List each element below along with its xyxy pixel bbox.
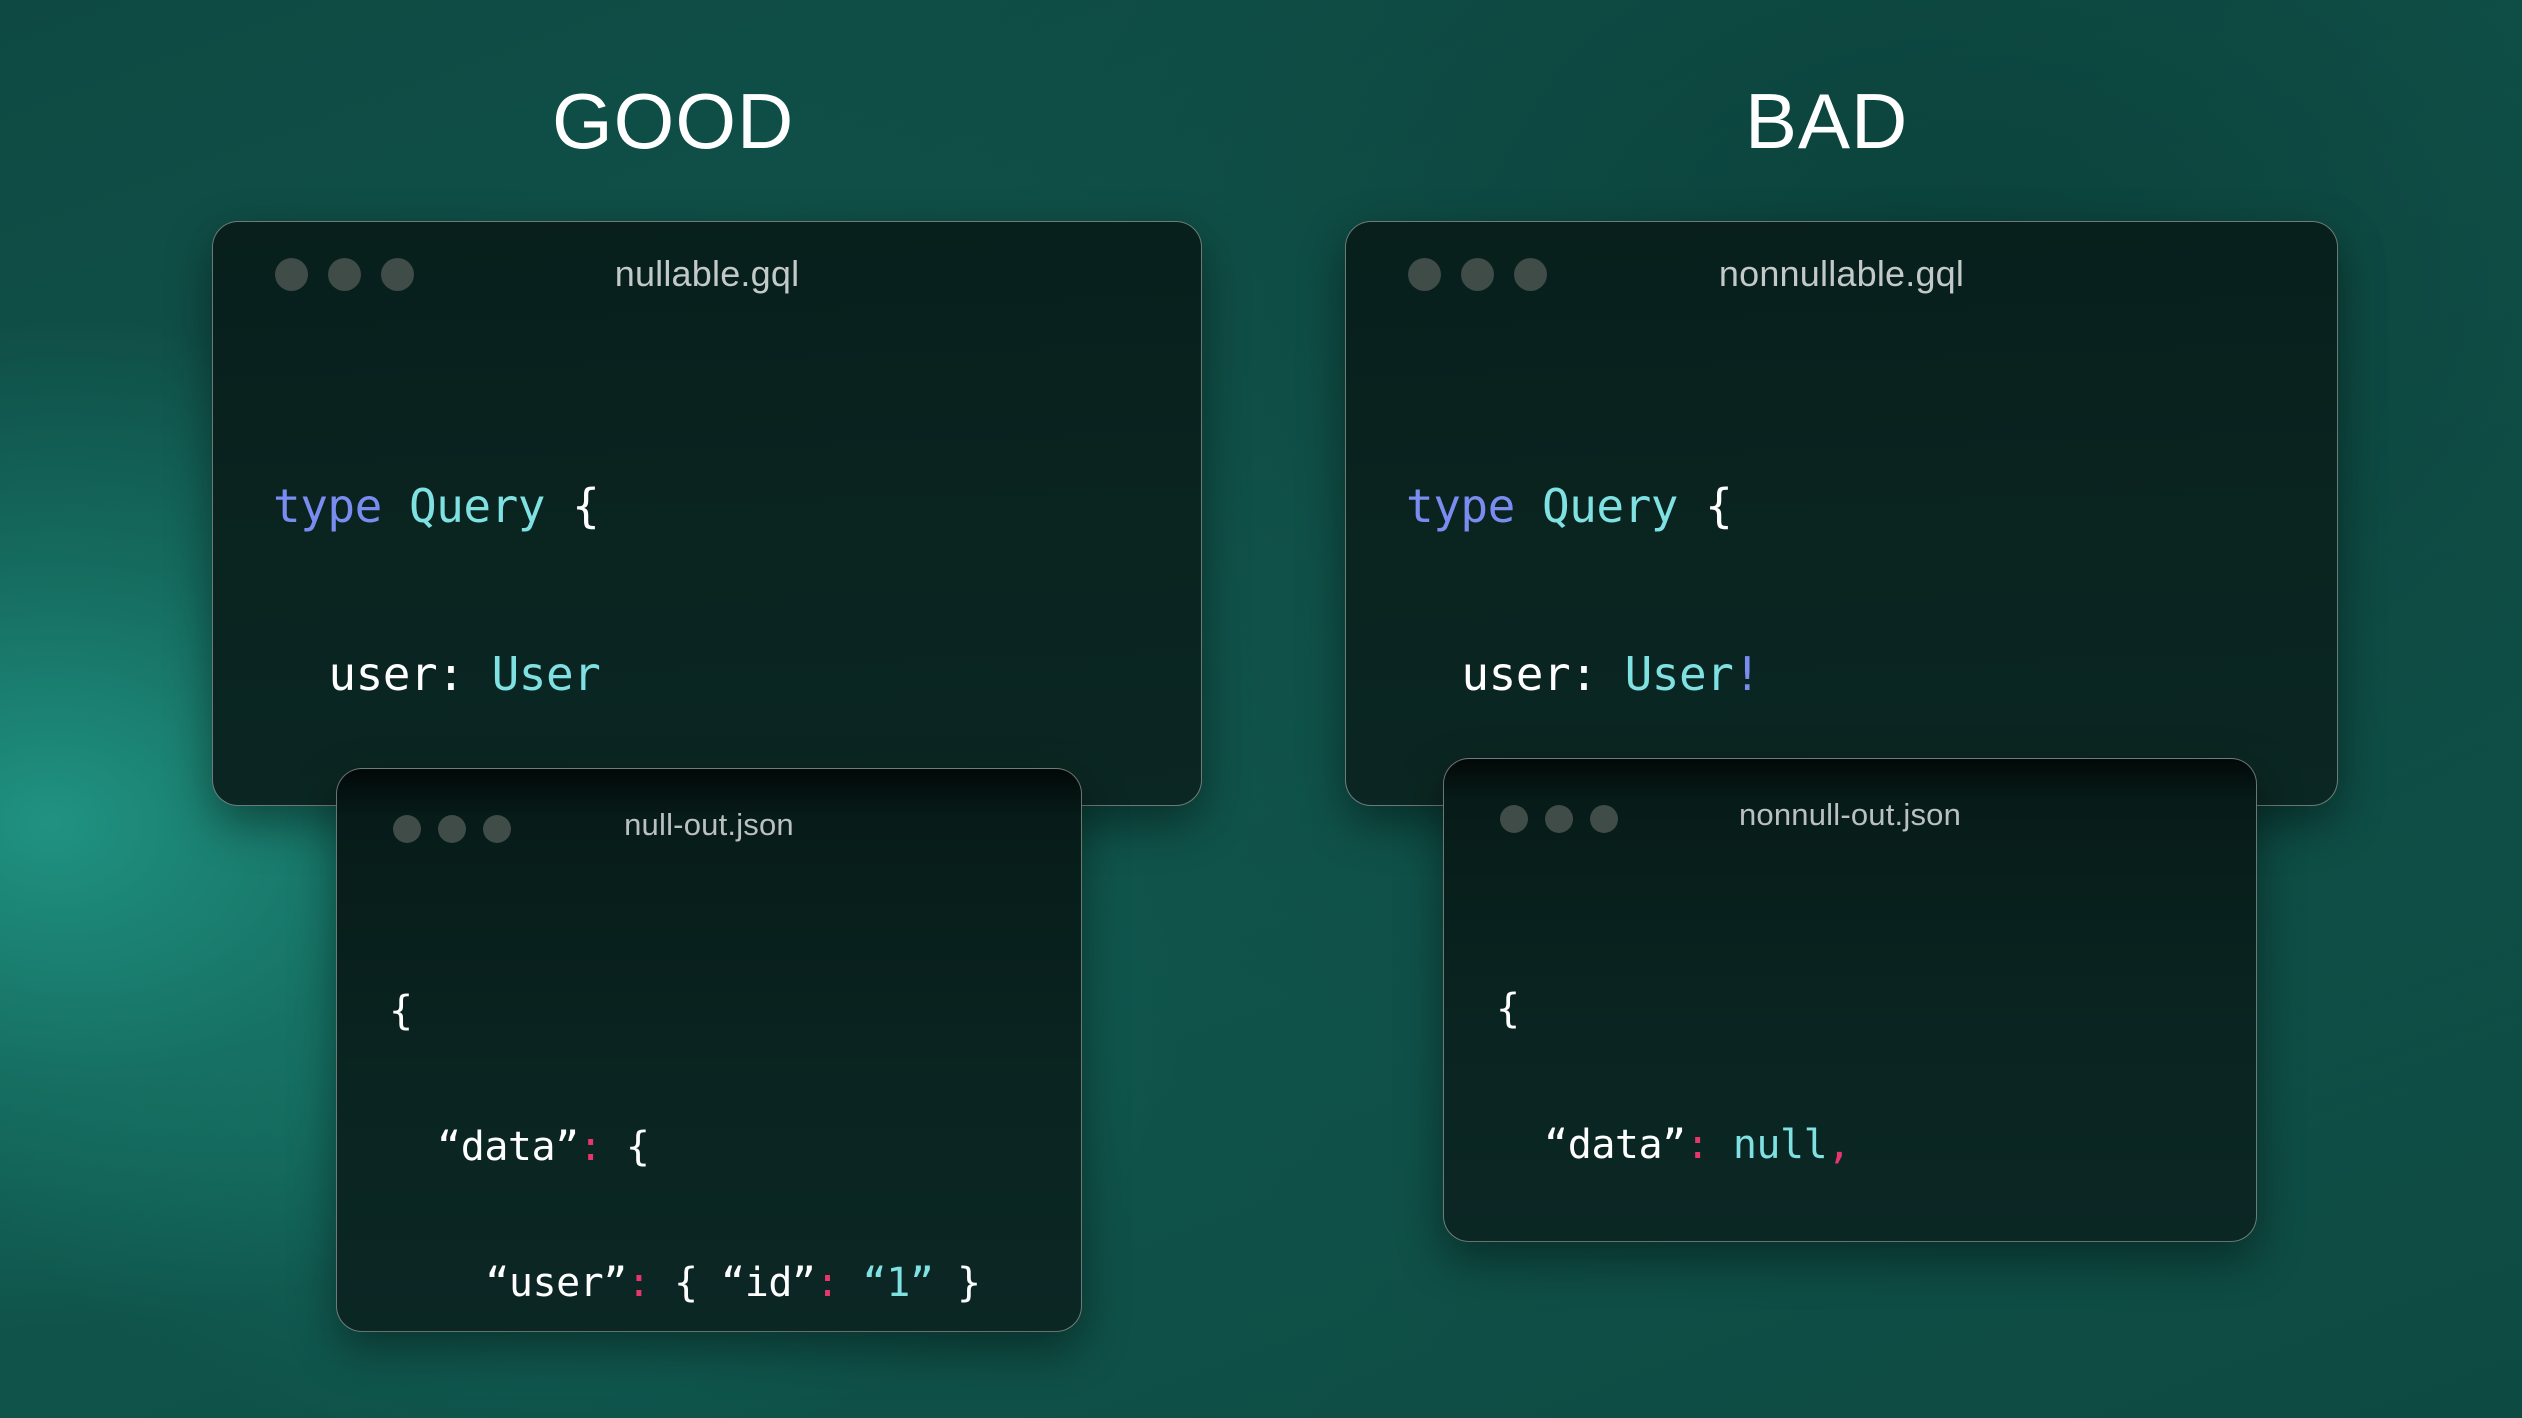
- minimize-icon[interactable]: [328, 258, 361, 291]
- json-value-null: null: [1709, 1122, 1827, 1168]
- bad-output-code: { “data”: null, “errors”: [...] }: [1496, 907, 1898, 1242]
- bad-schema-window[interactable]: nonnullable.gql type Query { user: User!…: [1345, 221, 2338, 806]
- code-line: type Query {: [273, 464, 764, 548]
- traffic-lights[interactable]: [393, 815, 511, 843]
- maximize-icon[interactable]: [1514, 258, 1547, 291]
- json-colon: :: [627, 1260, 651, 1306]
- good-schema-titlebar: nullable.gql: [213, 222, 1201, 326]
- type-name-query: Query: [409, 479, 545, 533]
- code-line: {: [389, 977, 981, 1045]
- json-open-brace: {: [1496, 986, 1520, 1032]
- bad-output-titlebar: nonnull-out.json: [1444, 759, 2256, 865]
- traffic-lights[interactable]: [275, 258, 414, 291]
- good-output-titlebar: null-out.json: [337, 769, 1081, 875]
- close-icon[interactable]: [1408, 258, 1441, 291]
- keyword-type: type: [273, 479, 382, 533]
- json-comma: ,: [1827, 1122, 1851, 1168]
- bad-output-window[interactable]: nonnull-out.json { “data”: null, “errors…: [1443, 758, 2257, 1242]
- maximize-icon[interactable]: [1590, 805, 1618, 833]
- good-output-window[interactable]: null-out.json { “data”: { “user”: { “id”…: [336, 768, 1082, 1332]
- code-line: “data”: {: [389, 1113, 981, 1181]
- bad-schema-code: type Query { user: User! product: Produc…: [1406, 380, 1924, 806]
- bad-schema-titlebar: nonnullable.gql: [1346, 222, 2337, 326]
- json-key-data: “data”: [1544, 1122, 1686, 1168]
- json-key-data: “data”: [437, 1124, 579, 1170]
- type-name-query: Query: [1542, 479, 1678, 533]
- close-icon[interactable]: [275, 258, 308, 291]
- json-value-id: “1”: [839, 1260, 933, 1306]
- code-line: user: User: [273, 632, 764, 716]
- json-key-user: “user”: [485, 1260, 627, 1306]
- code-line: {: [1496, 975, 1898, 1043]
- field-user: user:: [1461, 647, 1597, 701]
- minimize-icon[interactable]: [1461, 258, 1494, 291]
- maximize-icon[interactable]: [381, 258, 414, 291]
- maximize-icon[interactable]: [483, 815, 511, 843]
- traffic-lights[interactable]: [1408, 258, 1547, 291]
- open-brace: {: [1705, 479, 1732, 533]
- nonnull-bang: !: [1733, 647, 1760, 701]
- type-user: User: [492, 647, 601, 701]
- json-open-brace: {: [389, 988, 413, 1034]
- field-user: user:: [328, 647, 464, 701]
- json-colon: :: [1686, 1122, 1710, 1168]
- json-close-object: }: [933, 1260, 980, 1306]
- heading-bad: BAD: [1745, 82, 1908, 160]
- minimize-icon[interactable]: [1545, 805, 1573, 833]
- heading-good: GOOD: [552, 82, 794, 160]
- type-user: User: [1625, 647, 1734, 701]
- close-icon[interactable]: [1500, 805, 1528, 833]
- comparison-slide: GOOD BAD nullable.gql type Query { user:…: [0, 0, 2522, 1418]
- code-line: user: User!: [1406, 632, 1924, 716]
- traffic-lights[interactable]: [1500, 805, 1618, 833]
- json-open-object: {: [650, 1260, 721, 1306]
- json-colon: :: [579, 1124, 603, 1170]
- json-colon: :: [816, 1260, 840, 1306]
- keyword-type: type: [1406, 479, 1515, 533]
- json-key-id: “id”: [721, 1260, 815, 1306]
- close-icon[interactable]: [393, 815, 421, 843]
- good-schema-code: type Query { user: User product: Product…: [273, 380, 764, 806]
- good-output-code: { “data”: { “user”: { “id”: “1” } }, “er…: [389, 909, 981, 1332]
- minimize-icon[interactable]: [438, 815, 466, 843]
- code-line: “data”: null,: [1496, 1111, 1898, 1179]
- json-open-object: {: [602, 1124, 649, 1170]
- open-brace: {: [572, 479, 599, 533]
- code-line: “user”: { “id”: “1” }: [389, 1249, 981, 1317]
- good-schema-window[interactable]: nullable.gql type Query { user: User pro…: [212, 221, 1202, 806]
- code-line: type Query {: [1406, 464, 1924, 548]
